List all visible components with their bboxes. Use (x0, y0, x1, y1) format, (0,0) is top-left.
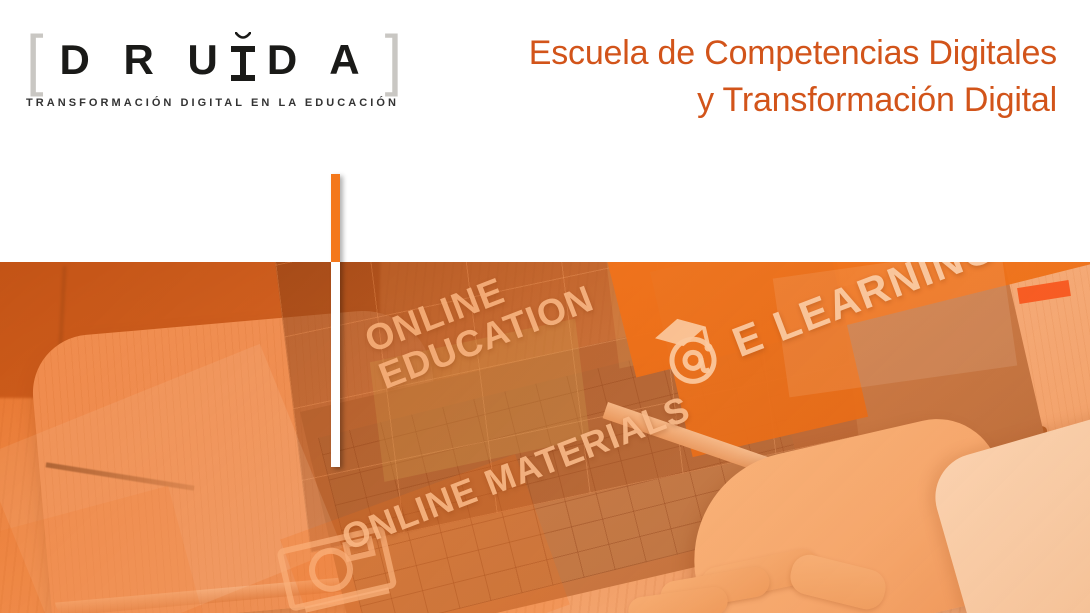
page-title: Escuela de Competencias Digitales y Tran… (529, 30, 1057, 124)
logo-letters-da: D A (267, 39, 371, 81)
hero-photo: ONLINE EDUCATION ONLINE MATERIALS E LEAR… (0, 262, 1090, 613)
logo-letters-dru: D R U (60, 39, 229, 81)
page-title-line-2: y Transformación Digital (529, 77, 1057, 124)
slide-root: [ D R U D A ] (0, 0, 1090, 613)
logo-bracket-left-icon: [ (26, 26, 44, 94)
header: [ D R U D A ] (0, 0, 1090, 262)
vertical-accent-bar (331, 174, 340, 467)
logo-letter-i-breve-icon (229, 39, 256, 81)
logo-wordmark: [ D R U D A ] (26, 32, 386, 88)
accent-bar-orange-segment (331, 174, 340, 262)
brand-logo: [ D R U D A ] (26, 32, 386, 109)
logo-bracket-right-icon: ] (385, 26, 403, 94)
accent-bar-white-segment (331, 262, 340, 467)
logo-letters: D R U D A (60, 39, 371, 81)
logo-i-bottom-serif (231, 75, 255, 81)
breve-accent-icon (235, 32, 251, 41)
photo-orange-gradient-wash (0, 262, 1090, 613)
logo-tagline: TRANSFORMACIÓN DIGITAL EN LA EDUCACIÓN (26, 97, 386, 109)
page-title-line-1: Escuela de Competencias Digitales (529, 30, 1057, 77)
